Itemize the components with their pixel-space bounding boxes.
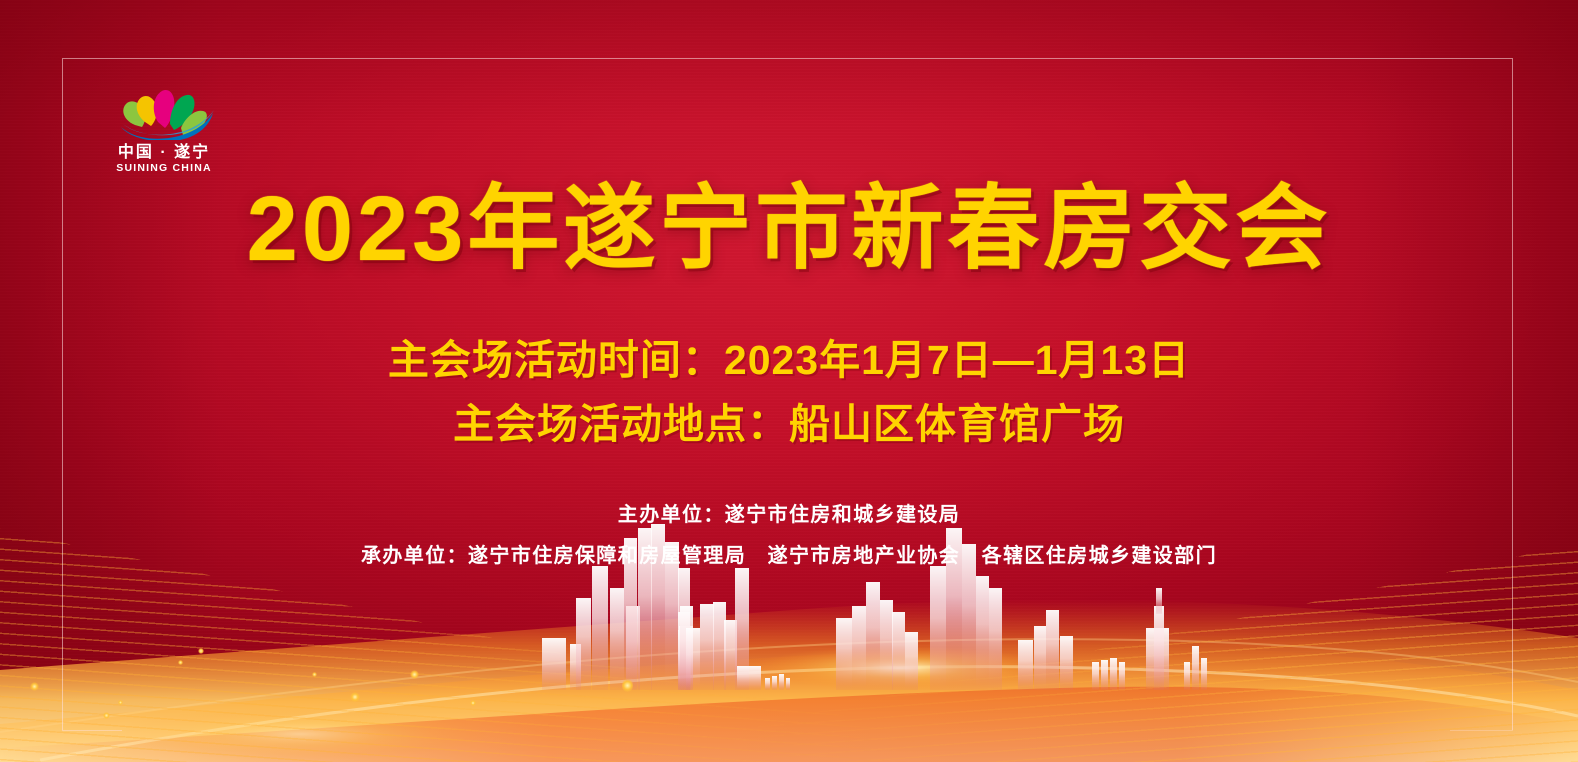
border-frame-bottom-left: [62, 730, 122, 731]
banner-title: 2023年遂宁市新春房交会: [0, 183, 1578, 275]
host-organization-line: 主办单位：遂宁市住房和城乡建设局: [0, 505, 1578, 525]
butterfly-flower-logo-icon: [101, 84, 227, 140]
logo-name-en: SUINING CHINA: [101, 162, 227, 176]
suining-city-logo: 中国 · 遂宁 SUINING CHINA: [101, 84, 227, 180]
co-organizer-line: 承办单位：遂宁市住房保障和房屋管理局 遂宁市房地产业协会 各辖区住房城乡建设部门: [0, 546, 1578, 566]
logo-name-cn: 中国 · 遂宁: [101, 143, 227, 162]
border-frame-bottom-right: [1450, 730, 1513, 731]
event-banner: 中国 · 遂宁 SUINING CHINA 2023年遂宁市新春房交会 主会场活…: [0, 0, 1578, 762]
event-time-line: 主会场活动时间：2023年1月7日—1月13日: [0, 340, 1578, 381]
event-location-line: 主会场活动地点：船山区体育馆广场: [0, 404, 1578, 445]
